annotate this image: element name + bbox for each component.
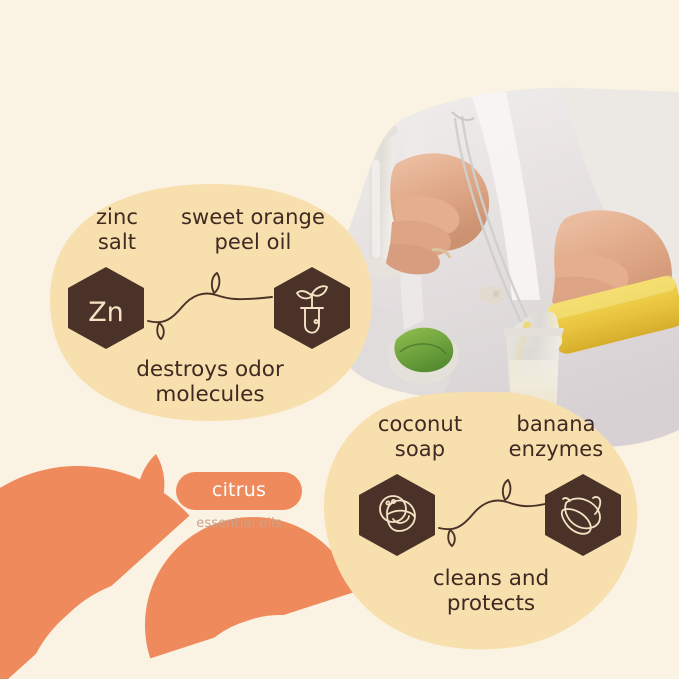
cleans-card-ingredients: coconut soap banana enzymes	[355, 412, 627, 462]
citrus-badge-label: citrus	[176, 472, 302, 510]
vine-leaf-connector	[148, 273, 272, 339]
zinc-card-molecule: Zn	[60, 263, 360, 349]
cleans-card: coconut soap banana enzymes	[355, 412, 627, 617]
infographic-canvas: zinc salt sweet orange peel oil Zn	[0, 0, 679, 679]
benefit-text-cleans-and-protects: cleans and protects	[355, 566, 627, 618]
benefit-text-destroys-odor: destroys odor molecules	[60, 357, 360, 409]
zinc-card-ingredients: zinc salt sweet orange peel oil	[60, 205, 360, 255]
citrus-badge: citrus essential oils	[176, 472, 302, 531]
ingredient-label-sweet-orange-peel-oil: sweet orange peel oil	[164, 205, 342, 255]
banana-hexagon-icon	[545, 474, 621, 556]
zinc-card: zinc salt sweet orange peel oil Zn	[60, 205, 360, 408]
coconut-hexagon-icon	[359, 474, 435, 556]
ingredient-label-coconut-soap: coconut soap	[361, 412, 479, 462]
ingredient-label-banana-enzymes: banana enzymes	[491, 412, 621, 462]
zn-symbol: Zn	[88, 297, 124, 328]
citrus-badge-sublabel: essential oils	[176, 516, 302, 531]
vine-leaf-connector	[439, 480, 545, 546]
cleans-card-molecule	[355, 470, 627, 556]
content-overlay: zinc salt sweet orange peel oil Zn	[0, 0, 679, 679]
zn-hexagon-icon: Zn	[68, 267, 144, 349]
ingredient-label-zinc-salt: zinc salt	[78, 205, 156, 255]
test-tube-sprout-hexagon-icon	[274, 267, 350, 349]
